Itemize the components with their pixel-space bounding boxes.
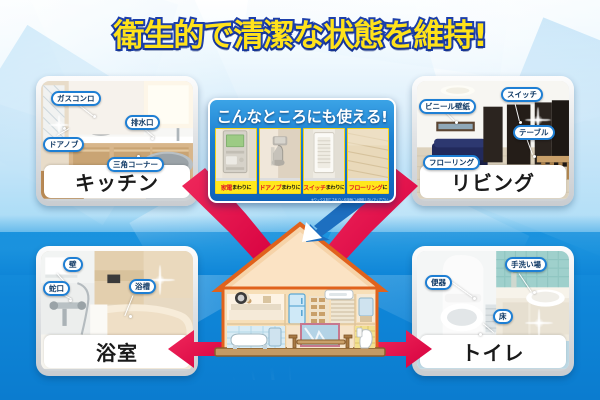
usage-photo-strip: 家電まわりに ドアノブまわりに [213,128,391,194]
usage-caption-1: ドアノブまわりに [260,181,300,193]
intercom-photo [216,129,256,178]
usage-callout-card[interactable]: こんなところにも使える! 家電まわりに [208,98,396,203]
callout-heading: こんなところにも使える! [213,103,391,128]
usage-caption-0: 家電まわりに [216,181,256,193]
usage-caption-3: フローリングに [348,181,388,193]
doorknob-photo [260,129,300,178]
usage-suffix-3: に [382,184,387,191]
callout-disclaimer: ※ワックス加工されている床面には使用しないでください [311,197,388,202]
usage-suffix-2: まわりに [326,184,345,191]
usage-keyword-2: スイッチ [303,183,325,192]
switch-photo [304,129,344,178]
usage-suffix-1: まわりに [281,184,300,191]
usage-shot-home-appliance[interactable]: 家電まわりに [215,128,257,194]
usage-keyword-0: 家電 [221,183,232,192]
infographic-canvas: 衛生的で清潔な状態を維持! [0,0,600,400]
usage-keyword-1: ドアノブ [259,183,281,192]
usage-shot-door-knob[interactable]: ドアノブまわりに [259,128,301,194]
usage-caption-2: スイッチまわりに [304,181,344,193]
usage-shot-light-switch[interactable]: スイッチまわりに [303,128,345,194]
flooring-photo [348,129,388,178]
usage-suffix-0: まわりに [232,184,251,191]
usage-shot-flooring[interactable]: フローリングに [347,128,389,194]
usage-keyword-3: フローリング [349,183,383,192]
